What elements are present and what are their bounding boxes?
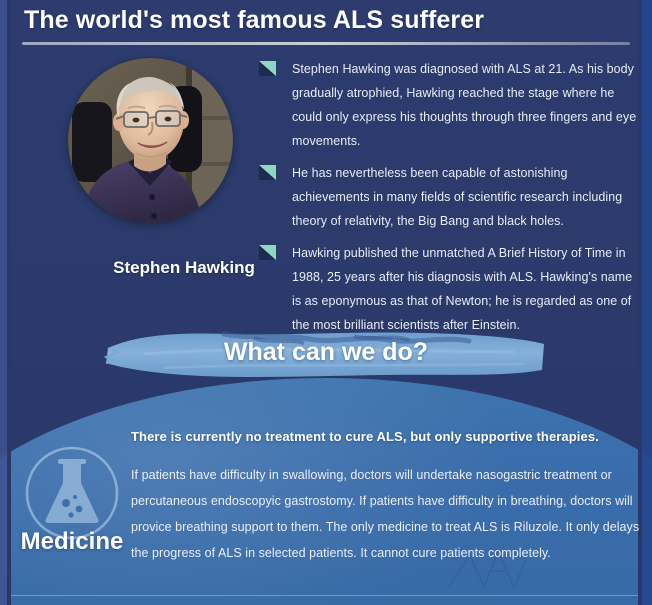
banner-title: What can we do? [104,338,548,367]
medicine-heading: There is currently no treatment to cure … [131,429,643,444]
flag-bullet-icon [259,245,276,260]
brush-stroke-banner: What can we do? [104,330,548,380]
list-item-text: Stephen Hawking was diagnosed with ALS a… [292,57,639,153]
bottom-divider [11,595,638,596]
bullet-list: Stephen Hawking was diagnosed with ALS a… [259,57,639,345]
hawking-portrait-photo [68,58,233,223]
list-item: Hawking published the unmatched A Brief … [259,241,639,337]
list-item-text: Hawking published the unmatched A Brief … [292,241,639,337]
title-divider [22,42,630,45]
infographic-poster: The world's most famous ALS sufferer [0,0,652,605]
flag-bullet-icon [259,165,276,180]
page-title: The world's most famous ALS sufferer [24,6,484,35]
flag-bullet-icon [259,61,276,76]
list-item: Stephen Hawking was diagnosed with ALS a… [259,57,639,153]
medicine-body-text: If patients have difficulty in swallowin… [131,462,641,566]
list-item-text: He has nevertheless been capable of asto… [292,161,639,233]
left-edge-strip [0,0,7,605]
list-item: He has nevertheless been capable of asto… [259,161,639,233]
medicine-label: Medicine [8,528,136,556]
left-edge-strip-inner [7,0,11,605]
portrait-block: Stephen Hawking [68,58,233,223]
right-edge-strip [642,0,652,605]
